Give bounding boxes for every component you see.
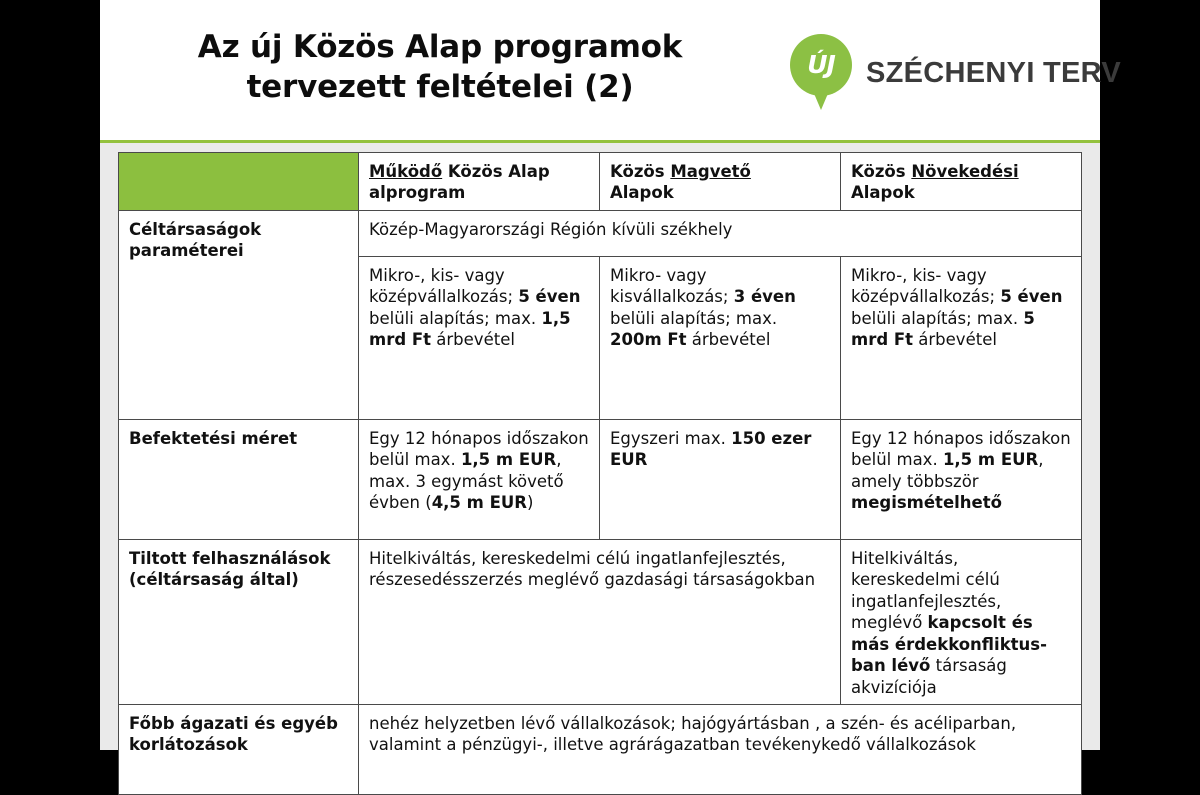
table-row-fobb-agazati: Főbb ágazati és egyéb korlátozások nehéz… (119, 704, 1082, 794)
table-row-region: Céltársaságok paraméterei Közép-Magyaror… (119, 210, 1082, 256)
pin-tip-shape (810, 84, 832, 110)
cell-celtarsasagok-mukodo: Mikro-, kis- vagy középvállalkozás; 5 év… (359, 256, 600, 419)
cell-befektetes-magveto: Egyszeri max. 150 ezer EUR (600, 419, 841, 539)
header-plain-kozos-c: Közös (851, 162, 911, 181)
table-row-befektetesi-meret: Befektetési méret Egy 12 hónapos időszak… (119, 419, 1082, 539)
conditions-table: Működő Közös Alap alprogram Közös Magvet… (118, 152, 1082, 795)
map-pin-icon: ÚJ (790, 34, 852, 112)
cell-celtarsasagok-magveto: Mikro- vagy kisvállalkozás; 3 éven belül… (600, 256, 841, 419)
header-underlined-magveto: Magvető (670, 162, 751, 181)
page-title-line-1: Az új Közös Alap programok (120, 28, 760, 68)
row-label-celtarsasagok-parameterei: Céltársaságok paraméterei (119, 210, 359, 419)
header-rest-kozos-alap: Közös Alap (442, 162, 549, 181)
row-label-befektetesi-meret: Befektetési méret (119, 419, 359, 539)
header-underlined-novekedesi: Növekedési (911, 162, 1018, 181)
table-corner-cell (119, 153, 359, 211)
page-title: Az új Közös Alap programok tervezett fel… (120, 28, 760, 107)
slide-stage: Az új Közös Alap programok tervezett fel… (100, 0, 1100, 750)
cell-befektetes-mukodo: Egy 12 hónapos időszakon belül max. 1,5 … (359, 419, 600, 539)
column-header-kozos-novekedesi: Közös Növekedési Alapok (841, 153, 1082, 211)
logo-wordmark: SZÉCHENYI TERV (866, 57, 1121, 90)
table-head: Működő Közös Alap alprogram Közös Magvet… (119, 153, 1082, 211)
row-label-tiltott-felhasznalasok: Tiltott felhasználások (céltársaság álta… (119, 539, 359, 704)
header-line2-alapok-b: Alapok (610, 183, 674, 202)
page-title-line-2: tervezett feltételei (2) (120, 68, 760, 108)
cell-celtarsasagok-novekedesi: Mikro-, kis- vagy középvállalkozás; 5 év… (841, 256, 1082, 419)
table-header-row: Működő Közös Alap alprogram Közös Magvet… (119, 153, 1082, 211)
conditions-table-wrapper: Működő Közös Alap alprogram Közös Magvet… (118, 152, 1081, 795)
header-line2-alprogram: alprogram (369, 183, 465, 202)
slide-title-band: Az új Közös Alap programok tervezett fel… (100, 0, 1100, 143)
column-header-mukodo-kozos-alap: Működő Közös Alap alprogram (359, 153, 600, 211)
header-underlined-mukodo: Működő (369, 162, 442, 181)
cell-befektetes-novekedesi: Egy 12 hónapos időszakon belül max. 1,5 … (841, 419, 1082, 539)
cell-fobb-agazati-all: nehéz helyzetben lévő vállalkozások; haj… (359, 704, 1082, 794)
column-header-kozos-magveto: Közös Magvető Alapok (600, 153, 841, 211)
cell-tiltott-mukodo-magveto: Hitelkiváltás, kereskedelmi célú ingatla… (359, 539, 841, 704)
header-plain-kozos-b: Közös (610, 162, 670, 181)
table-row-tiltott-felhasznalasok: Tiltott felhasználások (céltársaság álta… (119, 539, 1082, 704)
pin-label: ÚJ (790, 50, 852, 79)
header-line2-alapok-c: Alapok (851, 183, 915, 202)
table-body: Céltársaságok paraméterei Közép-Magyaror… (119, 210, 1082, 794)
region-requirement-cell: Közép-Magyarországi Régión kívüli székhe… (359, 210, 1082, 256)
cell-tiltott-novekedesi: Hitelkiváltás, kereskedelmi célú ingatla… (841, 539, 1082, 704)
row-label-fobb-agazati-korlatozasok: Főbb ágazati és egyéb korlátozások (119, 704, 359, 794)
szechenyi-terv-logo: ÚJ SZÉCHENYI TERV (790, 34, 1121, 112)
